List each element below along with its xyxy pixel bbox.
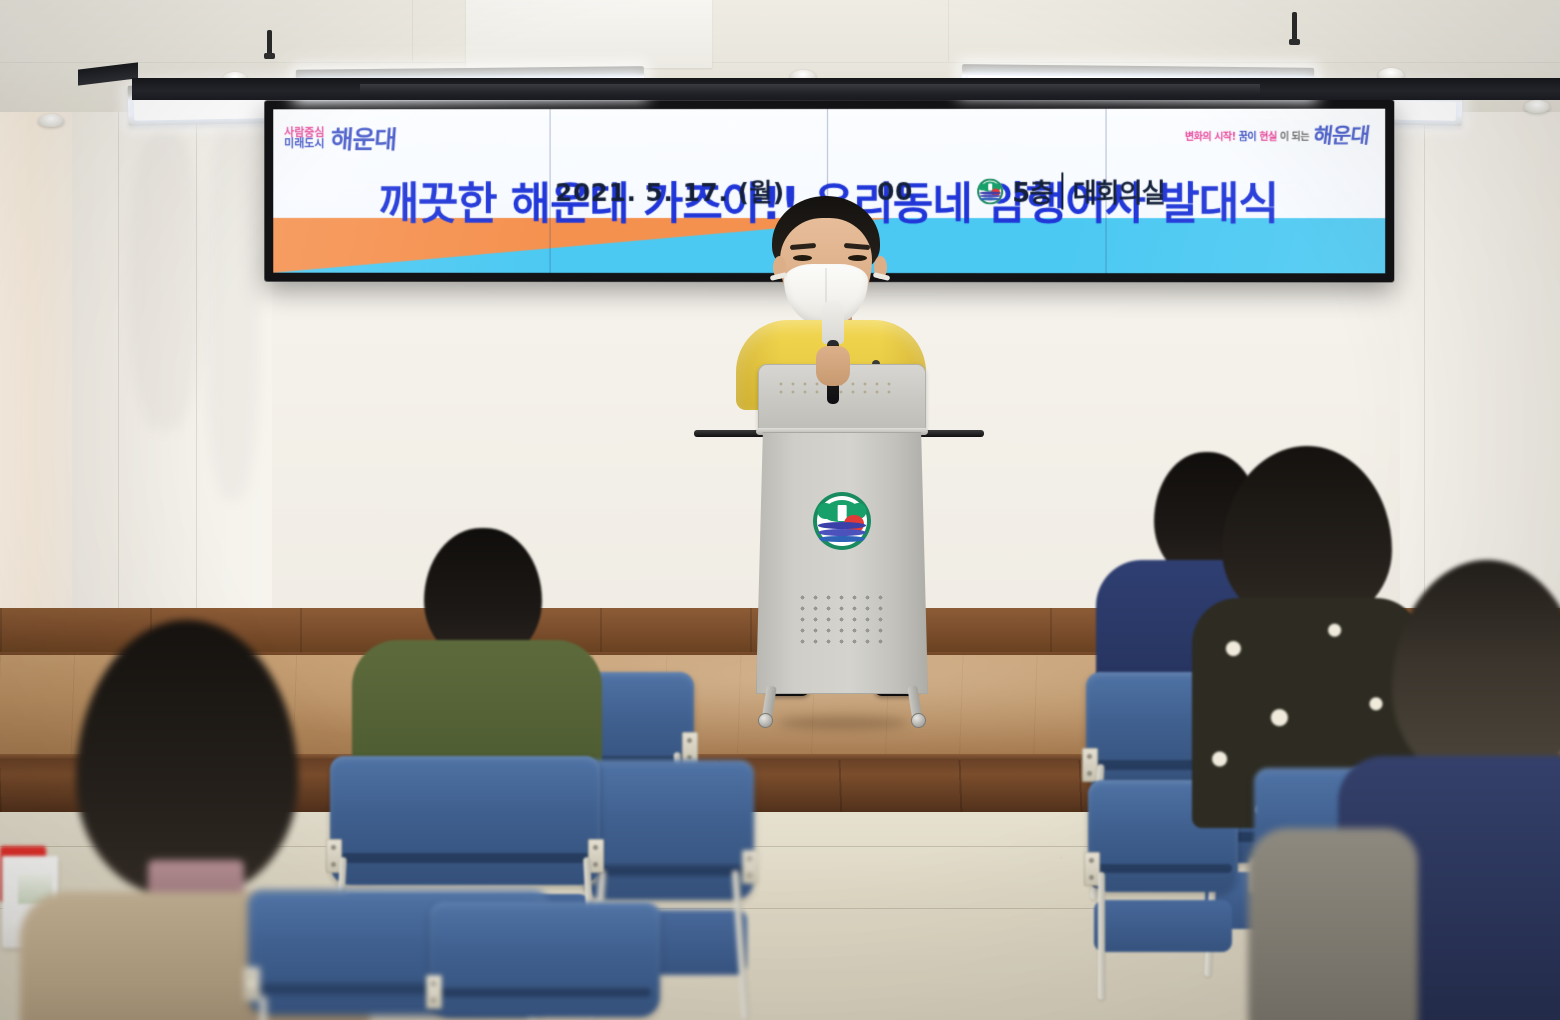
microphone-head <box>822 300 844 344</box>
event-room-text: 대회의실 <box>1062 172 1165 209</box>
logo-wordmark-right: 해운대 <box>1312 120 1371 150</box>
logo-tag-c: 현실 <box>1259 132 1277 143</box>
logo-tag-b: 꿈이 <box>1239 132 1257 143</box>
haeundae-gu-emblem-icon <box>977 178 1003 204</box>
logo-tagline-line2: 미래도시 <box>284 139 324 151</box>
event-floor-text: 5층 <box>1012 172 1052 209</box>
event-location-group: 5층 대회의실 <box>977 172 1164 209</box>
logo-tag-d: 이 되는 <box>1280 132 1309 143</box>
podium-caster-left <box>758 713 773 728</box>
wall-seam <box>196 96 197 656</box>
ceiling-rod <box>267 30 272 56</box>
chair[interactable] <box>430 902 660 1020</box>
person-head <box>76 620 298 896</box>
speaker-eye-right <box>848 255 867 261</box>
podium <box>742 364 942 724</box>
speaker-hand <box>816 346 850 386</box>
podium-caster-right <box>911 713 926 728</box>
ceiling-panel <box>466 0 712 68</box>
person-torso <box>1248 828 1418 1020</box>
logo-tagline-right: 변화의 시작! 꿈이 현실 이 되는 <box>1185 128 1309 143</box>
wall-shading <box>130 130 200 430</box>
screen-mullion <box>1106 109 1107 273</box>
ceiling-rod <box>1292 12 1297 42</box>
screen-mullion <box>550 109 551 273</box>
person-head <box>1392 560 1560 784</box>
logo-tagline-left: 사람중심 미래도시 <box>284 127 324 151</box>
ceiling-beam-lower <box>360 84 1260 94</box>
mask-strap-right <box>873 272 891 281</box>
recessed-downlight <box>38 114 64 127</box>
podium-body <box>756 432 928 694</box>
haeundae-logo-right: 변화의 시작! 꿈이 현실 이 되는 해운대 <box>1185 120 1370 150</box>
audience-person-grey-shoulder <box>1248 828 1418 1020</box>
conference-hall-photo: 사람중심 미래도시 해운대 변화의 시작! 꿈이 현실 이 되는 해운대 깨끗한… <box>0 0 1560 1020</box>
logo-wordmark-left: 해운대 <box>329 121 397 157</box>
podium-emblem-icon <box>813 492 871 550</box>
podium-perforation <box>796 592 888 648</box>
logo-tag-a: 변화의 시작! <box>1185 132 1236 143</box>
wall-shading <box>205 120 260 500</box>
recessed-downlight <box>1524 100 1550 113</box>
speaker-eye-left <box>793 255 812 261</box>
haeundae-logo-left: 사람중심 미래도시 해운대 <box>284 121 396 157</box>
